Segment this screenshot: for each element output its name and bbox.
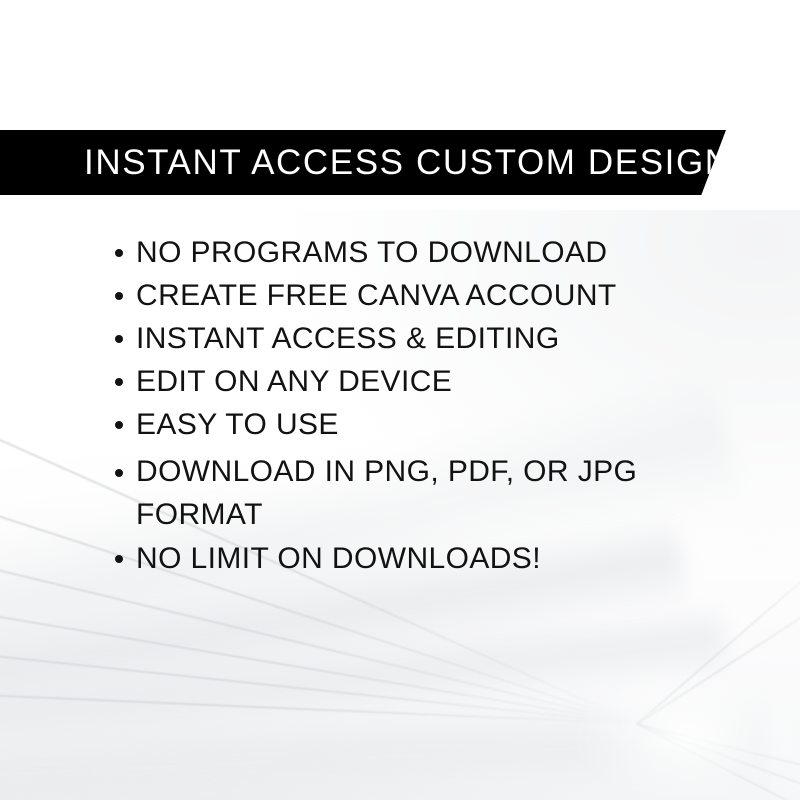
feature-list: NO PROGRAMS TO DOWNLOAD CREATE FREE CANV… (110, 231, 670, 580)
wave-streak-1 (0, 678, 637, 725)
wave-streak-10 (637, 565, 800, 724)
list-item: EDIT ON ANY DEVICE (110, 360, 670, 403)
list-item: DOWNLOAD IN PNG, PDF, OR JPG FORMAT (110, 446, 670, 537)
wave-streak-8 (637, 723, 800, 800)
list-item-label: EASY TO USE (136, 409, 339, 441)
list-item: EASY TO USE (110, 403, 670, 446)
wave-sweep-4 (0, 749, 800, 800)
wave-sweep-2 (0, 603, 727, 800)
list-item-label: EDIT ON ANY DEVICE (136, 366, 452, 398)
list-item-label: CREATE FREE CANVA ACCOUNT (136, 280, 617, 312)
list-item: NO PROGRAMS TO DOWNLOAD (110, 231, 670, 274)
list-item-label: NO PROGRAMS TO DOWNLOAD (136, 237, 607, 269)
header-banner: INSTANT ACCESS CUSTOM DESIGNS (0, 130, 726, 195)
wave-streak-2 (0, 614, 637, 724)
list-item: INSTANT ACCESS & EDITING (110, 317, 670, 360)
list-item-label: DOWNLOAD IN PNG, PDF, OR JPG FORMAT (136, 451, 670, 536)
wave-sweep-3 (0, 689, 772, 800)
list-item-label: INSTANT ACCESS & EDITING (136, 323, 560, 355)
wave-streak-9 (637, 723, 800, 800)
wave-streak-7 (637, 723, 800, 797)
list-item: NO LIMIT ON DOWNLOADS! (110, 537, 670, 580)
page-title: INSTANT ACCESS CUSTOM DESIGNS (84, 145, 757, 180)
list-item: CREATE FREE CANVA ACCOUNT (110, 274, 670, 317)
wave-highlight (520, 640, 800, 800)
poster-canvas: INSTANT ACCESS CUSTOM DESIGNS NO PROGRAM… (0, 0, 800, 800)
list-item-label: NO LIMIT ON DOWNLOADS! (136, 543, 541, 575)
